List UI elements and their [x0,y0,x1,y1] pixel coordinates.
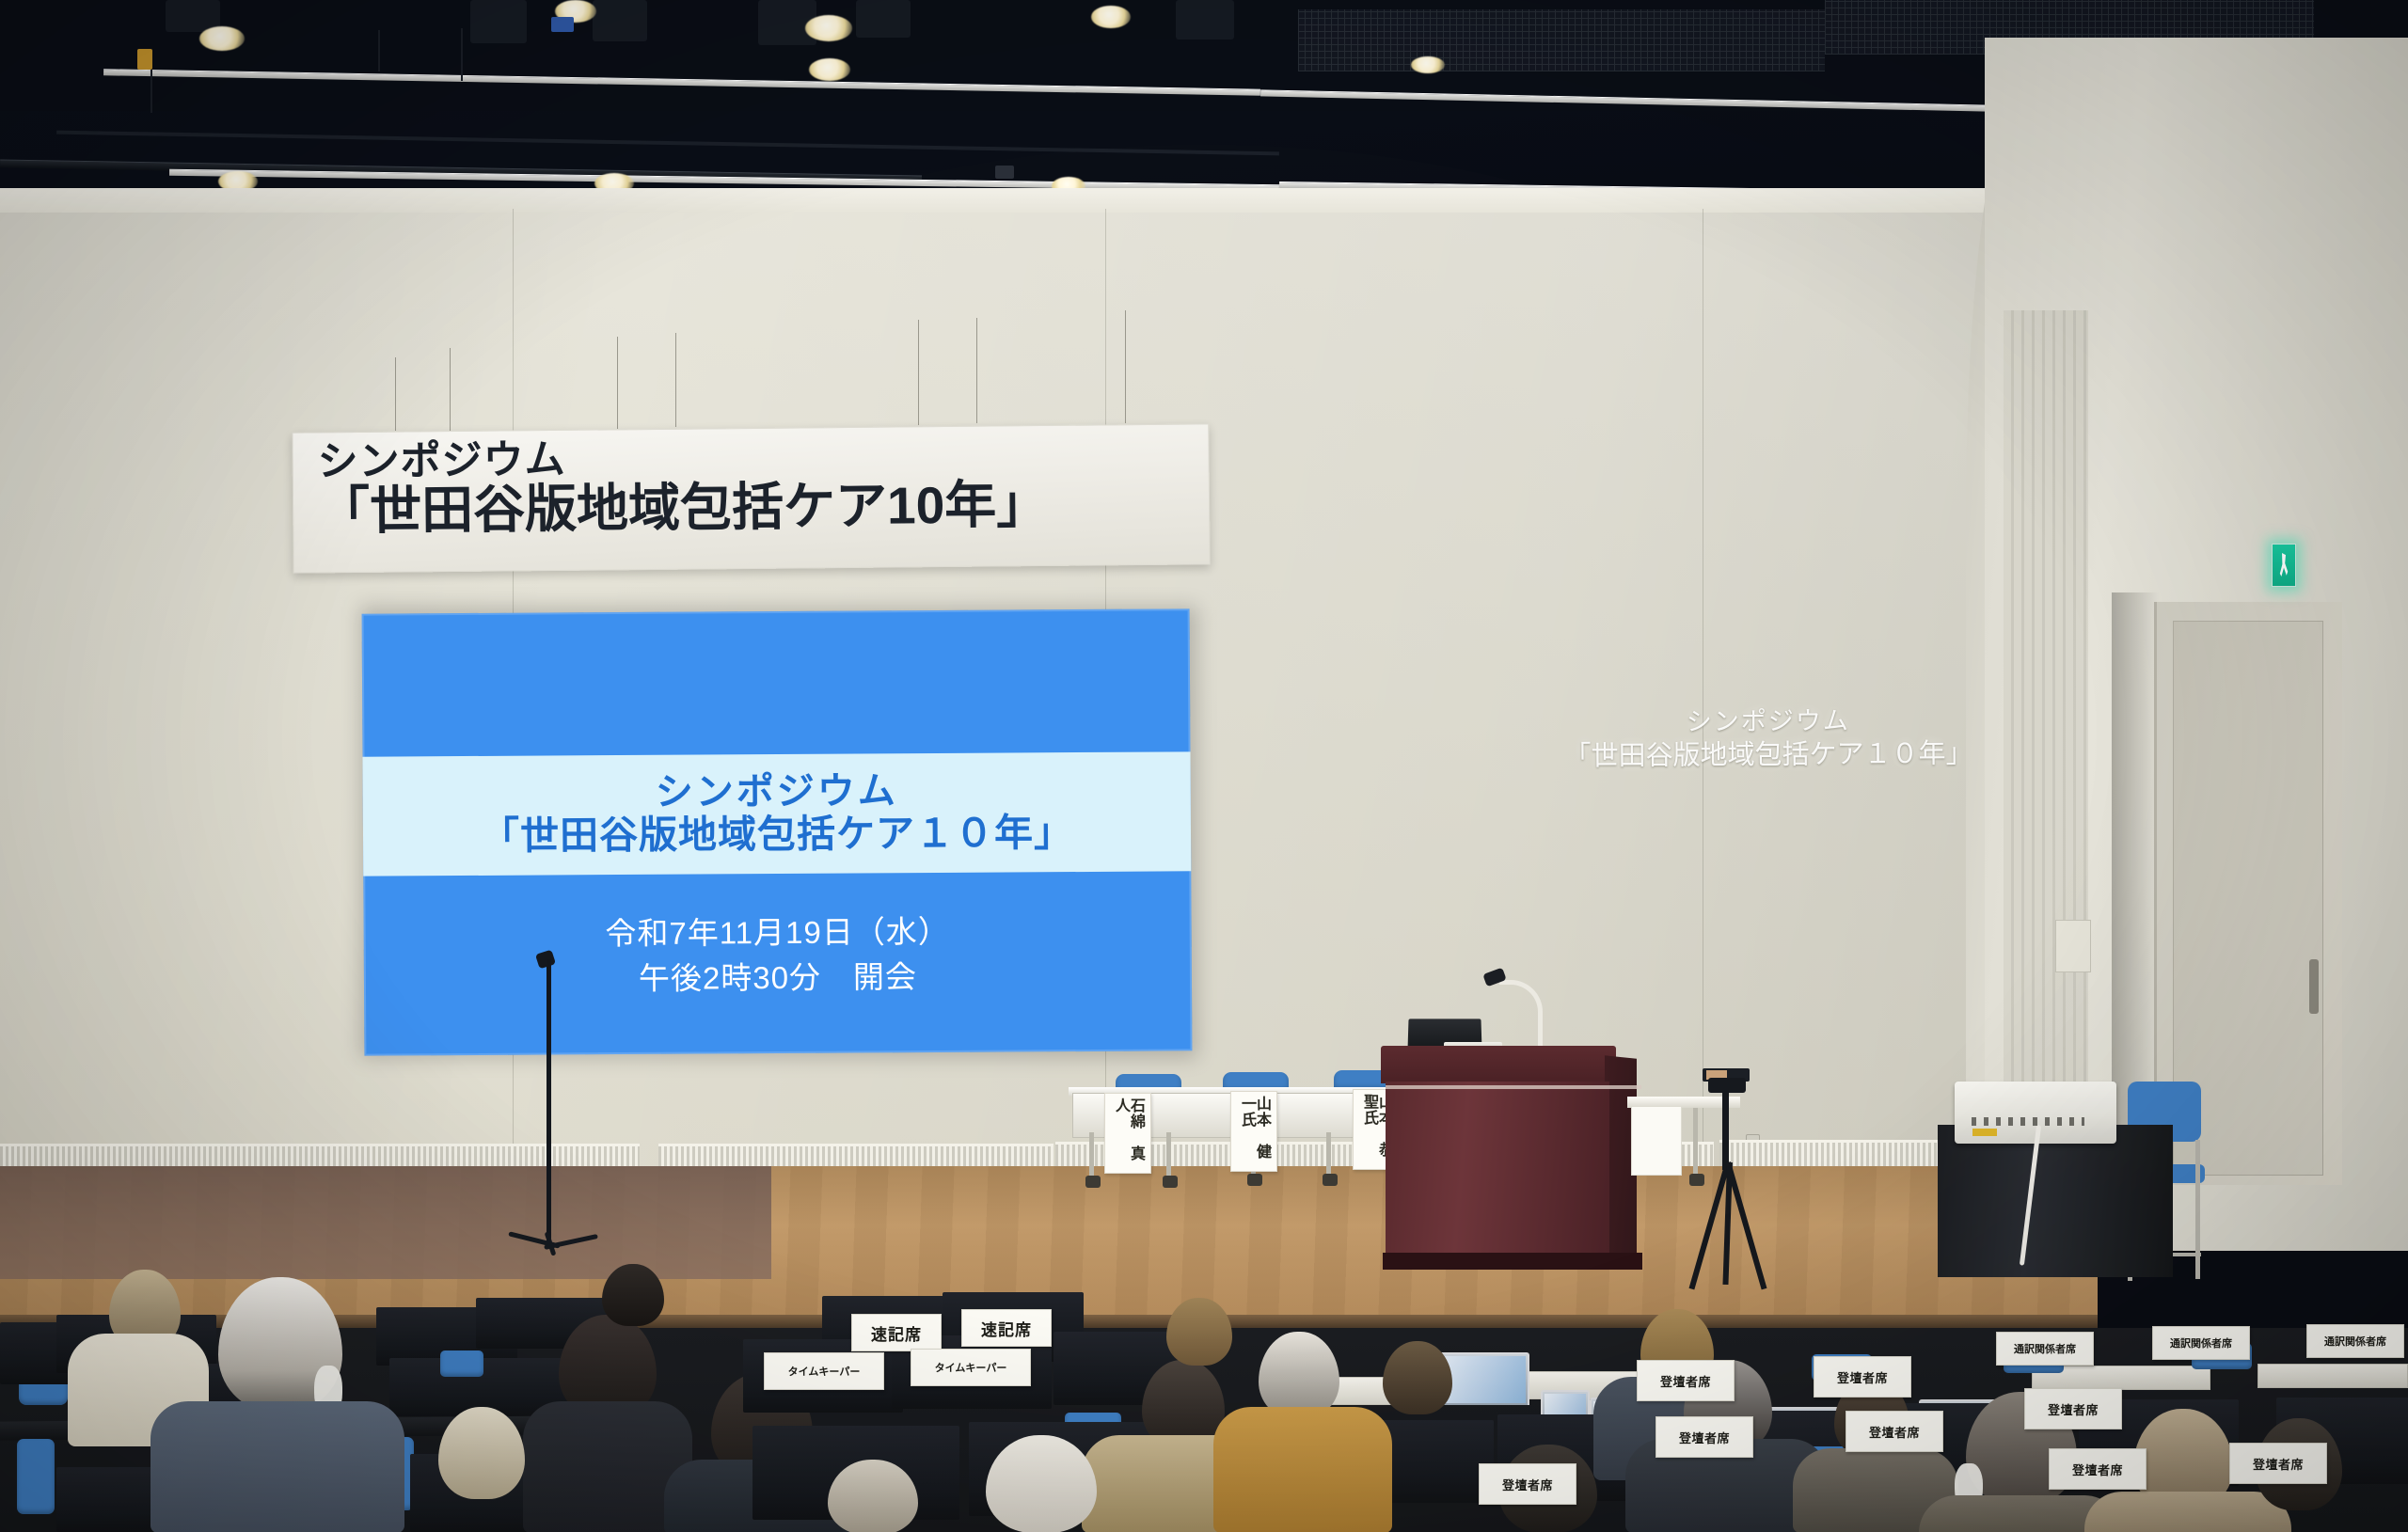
nameplate-name: 山本 健一氏 [1239,1096,1269,1171]
seat-sign-stenographer: 速記席 [851,1314,942,1351]
audience-head [438,1407,525,1499]
stage-light-housing [470,0,527,43]
audience-head [1259,1332,1339,1418]
screen-date: 令和7年11月19日（水） [364,908,1192,957]
chair-frame [2195,1140,2200,1279]
desk-shelf [2257,1364,2408,1388]
seat-cushion [440,1350,483,1377]
stage-light [199,26,245,51]
stage-light-housing [1176,0,1234,39]
seat-sign-speaker: 登壇者席 [1655,1416,1753,1458]
projector-label [1972,1129,1997,1136]
banner-line-1: シンポジウム [317,434,1183,483]
table-leg [1089,1132,1094,1179]
seat-sign-label: 登壇者席 [1837,1368,1888,1386]
seat-sign-speaker: 登壇者席 [2049,1448,2147,1490]
seat-sign-label: 登壇者席 [1660,1372,1711,1390]
stage-light [1411,56,1445,73]
stage-light [809,58,850,81]
wall-projection-text: シンポジウム 「世田谷版地域包括ケア１０年」 [1524,703,2013,775]
stage-light [805,15,852,41]
seat-sign-timekeeper: タイムキーパー [911,1349,1031,1386]
seat-sign-speaker: 登壇者席 [2024,1388,2122,1429]
seat-sign-interpreter: 通訳関係者席 [1996,1332,2094,1366]
emergency-exit-icon [2272,544,2296,587]
seat-sign-interpreter: 通訳関係者席 [2306,1324,2404,1358]
audience-head [1166,1298,1232,1366]
audience-head [602,1264,664,1326]
seat-sign-label: 登壇者席 [2253,1455,2304,1473]
wall-cornice [0,188,2079,213]
table-leg [1326,1132,1331,1177]
stage-light-housing [856,0,911,38]
seat-sign-label: タイムキーパー [788,1364,861,1379]
screen-title-line-2: 「世田谷版地域包括ケア１０年」 [481,812,1073,859]
podium-top [1381,1046,1616,1083]
screen-title-line-1: シンポジウム [656,770,898,813]
nameplate: 山本 健一氏 [1230,1091,1277,1172]
audience-body [1213,1407,1392,1532]
seat-sign-speaker: 登壇者席 [2229,1443,2327,1484]
seat-cushion [17,1439,55,1514]
seat-sign-label: 登壇者席 [1869,1423,1920,1441]
seat-sign-label: 通訳関係者席 [2324,1334,2386,1349]
rigging-clamp [995,166,1014,179]
nameplate: 石綿 真人 [1104,1093,1151,1174]
door-handle[interactable] [2309,959,2319,1014]
screen-date-block: 令和7年11月19日（水） 午後2時30分 開会 [364,908,1193,1003]
table-caster [1085,1176,1101,1188]
banner-line-2: 「世田谷版地域包括ケア10年」 [318,477,1185,540]
table-caster [1689,1174,1704,1186]
table-leg [1693,1108,1698,1176]
ceiling-pipe [56,131,1279,156]
table-caster [1247,1174,1262,1186]
seat-sign-label: 速記席 [871,1321,922,1345]
wall-panel-seam [1703,209,1703,1159]
projection-screen: シンポジウム 「世田谷版地域包括ケア１０年」 令和7年11月19日（水） 午後2… [362,608,1193,1055]
side-table-panel [1631,1106,1682,1176]
seat-sign-label: 登壇者席 [1679,1429,1730,1446]
audience-head [1383,1341,1452,1414]
stage-light-housing [593,0,647,41]
seat-sign-label: 登壇者席 [2048,1400,2099,1418]
stage-light [1091,6,1131,28]
seat-sign-interpreter: 通訳関係者席 [2152,1326,2250,1360]
wall-projection-line-2: 「世田谷版地域包括ケア１０年」 [1524,736,2013,775]
seat-sign-speaker: 登壇者席 [1846,1411,1943,1452]
table-caster [1163,1176,1178,1188]
wall-access-panel [2055,920,2091,972]
seat-sign-label: 登壇者席 [2072,1461,2123,1478]
screen-title-band: シンポジウム 「世田谷版地域包括ケア１０年」 [363,751,1192,876]
ceiling-cable [378,30,380,71]
audience-area: 速記席速記席タイムキーパータイムキーパー登壇者席登壇者席登壇者席登壇者席登壇者席… [0,1260,2408,1532]
wall-projection-line-1: シンポジウム [1524,703,2013,740]
rigging-clamp [137,49,152,70]
wall-ribs [2004,310,2088,1119]
seat-sign-label: タイムキーパー [935,1360,1007,1375]
draped-equipment-table [1938,1125,2173,1277]
seat-sign-timekeeper: タイムキーパー [764,1352,884,1390]
ceiling-cable [150,70,152,113]
seat-sign-speaker: 登壇者席 [1637,1360,1735,1401]
audience-body [2084,1492,2291,1532]
seat-sign-speaker: 登壇者席 [1479,1463,1576,1505]
hall-banner: シンポジウム 「世田谷版地域包括ケア10年」 [292,423,1210,573]
nameplate-name: 石綿 真人 [1113,1098,1143,1173]
seat-sign-label: 速記席 [981,1317,1032,1340]
table-leg [1166,1132,1171,1179]
podium [1386,1082,1609,1270]
seat-sign-label: 通訳関係者席 [2014,1341,2076,1356]
audience-body [150,1401,404,1532]
rigging-clamp [551,17,574,32]
ceiling-grid-panel [1298,9,1825,71]
ceiling-cable [461,28,463,81]
seat-sign-label: 通訳関係者席 [2170,1335,2232,1350]
seat-sign-label: 登壇者席 [1502,1476,1553,1493]
seat-sign-stenographer: 速記席 [961,1309,1052,1347]
podium-trim [1386,1085,1641,1089]
projector-ports-icon [1972,1117,2084,1126]
table-caster [1323,1174,1338,1186]
seat-sign-speaker: 登壇者席 [1814,1356,1911,1398]
microphone-stand [547,959,551,1241]
screen-time: 午後2時30分 開会 [364,953,1192,1003]
tripod-column [1722,1091,1729,1170]
auditorium-photo: シンポジウム 「世田谷版地域包括ケア10年」 シンポジウム 「世田谷版地域包括ケ… [0,0,2408,1532]
